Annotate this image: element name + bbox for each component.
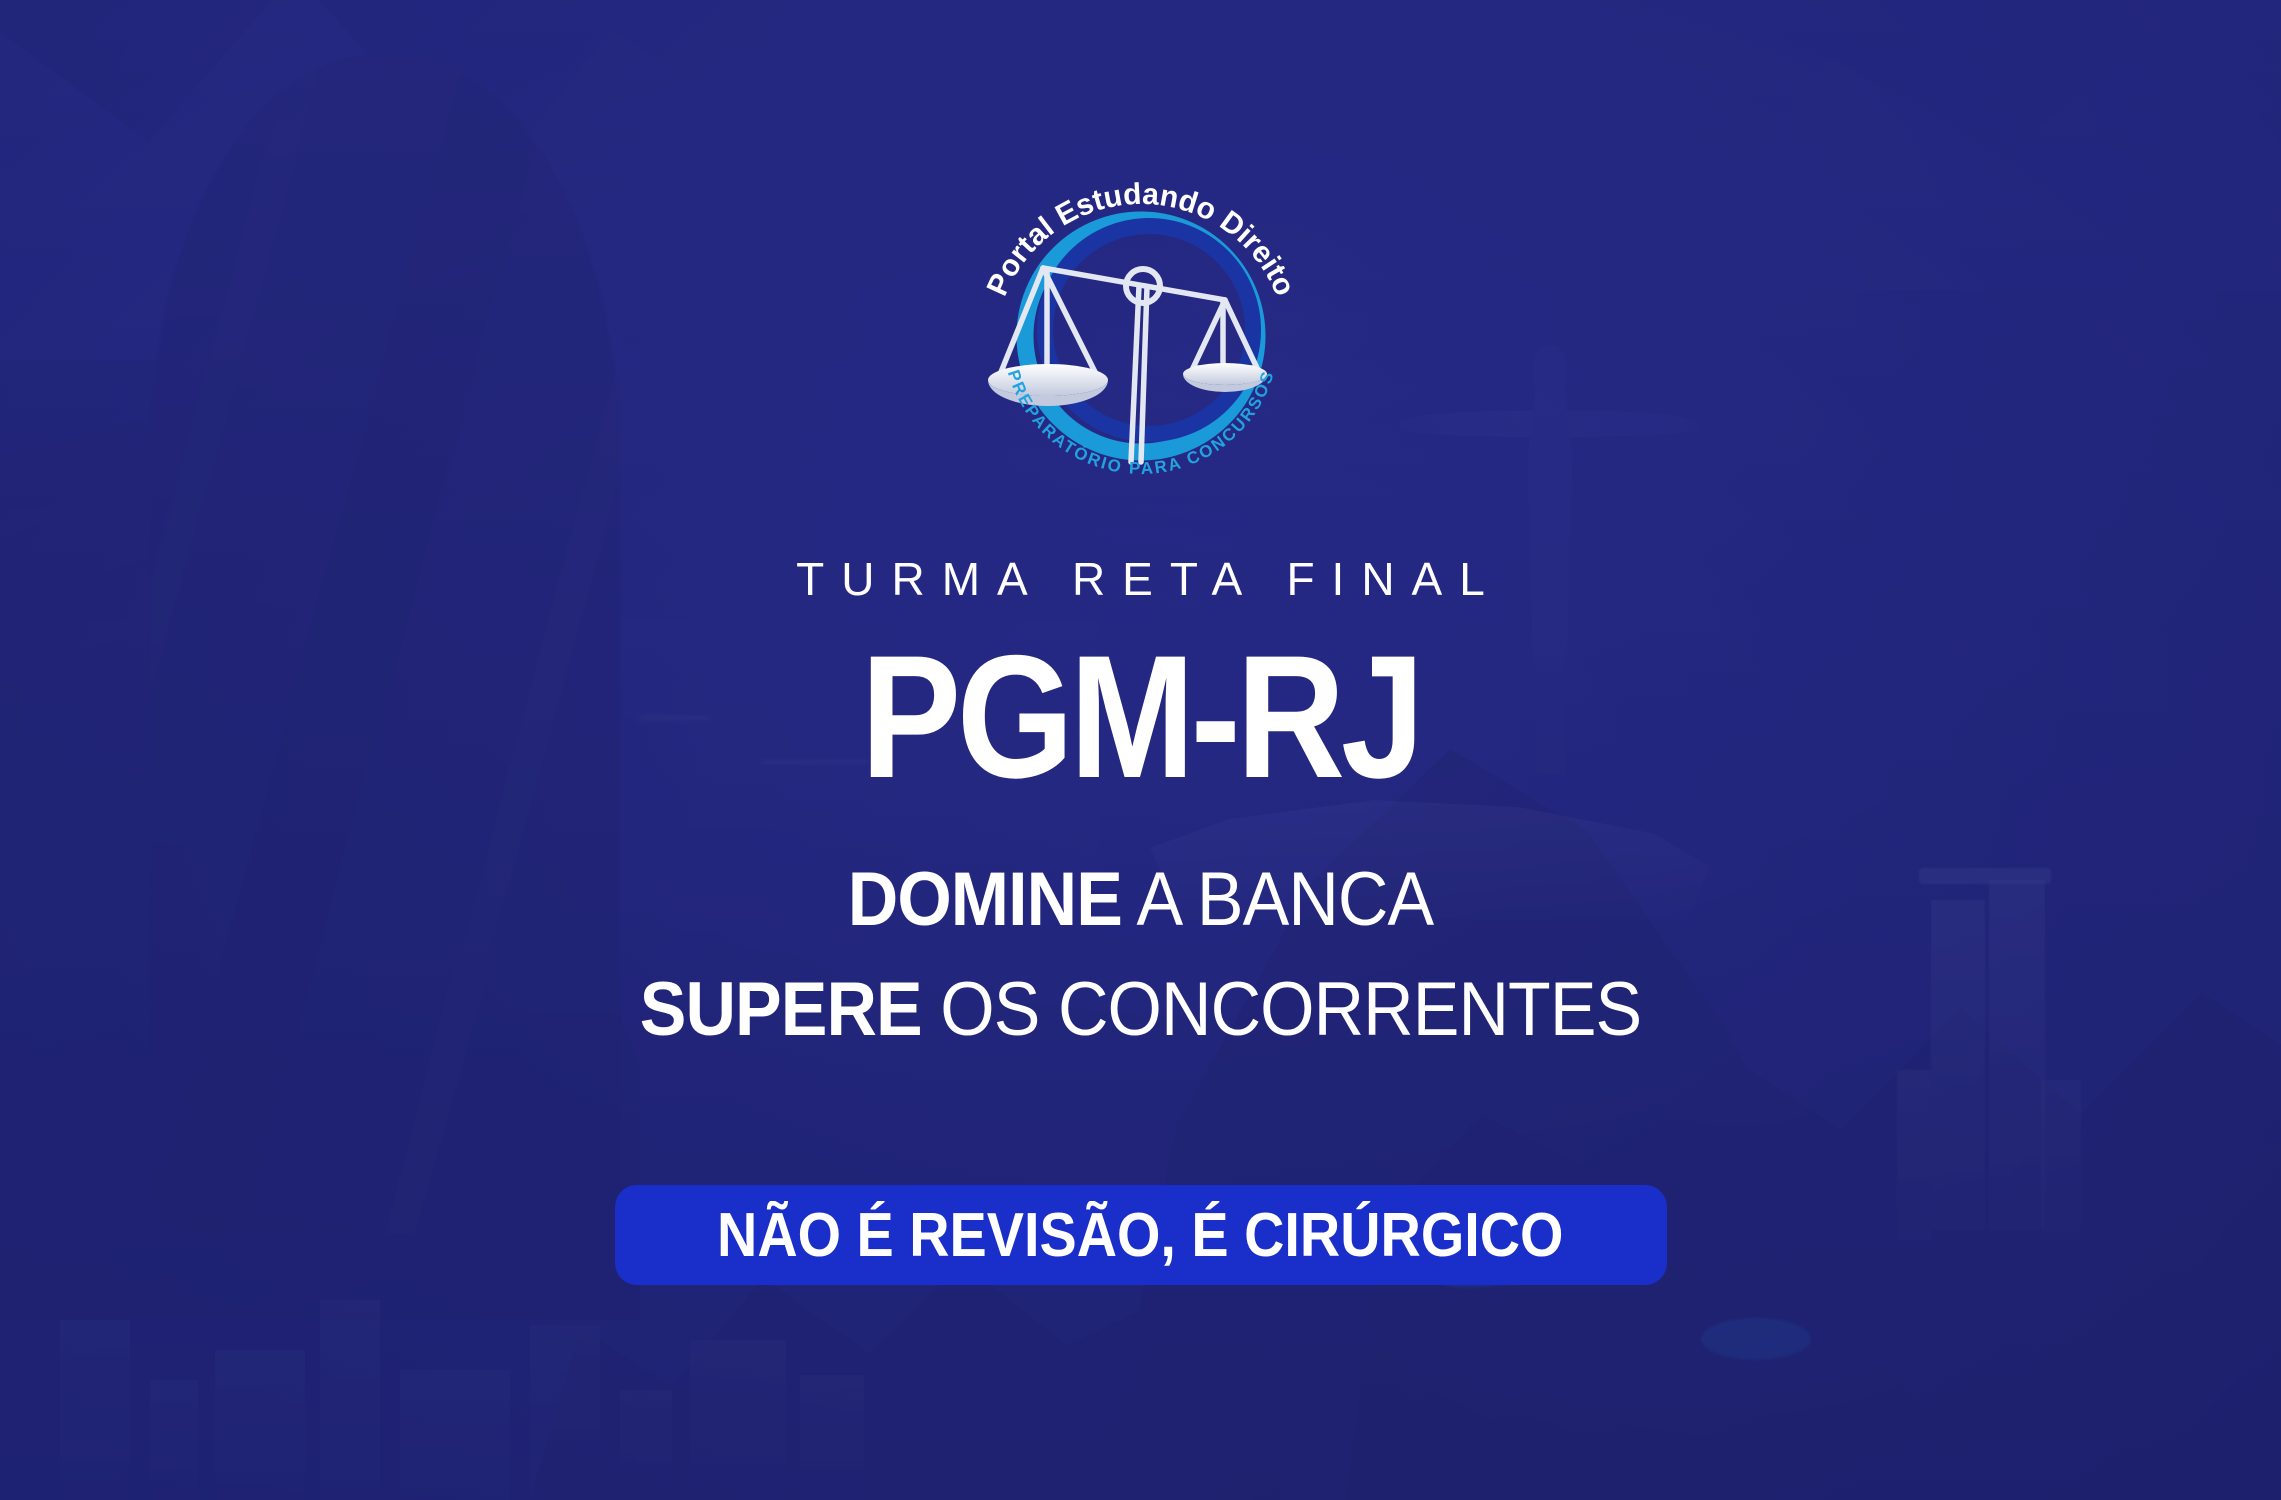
subtitle-line-2: SUPERE OS CONCORRENTES [91,972,2190,1048]
logo-pan-right [1183,363,1267,385]
subtitle-2-bold: SUPERE [640,967,922,1052]
subtitle-line-1: DOMINE A BANCA [91,862,2190,938]
page-title: PGM-RJ [160,630,2122,805]
brand-logo: Portal Estudando Direito PREPARATÓRIO PA… [961,140,1321,500]
badge-label: NÃO É REVISÃO, É CIRÚRGICO [717,1200,1563,1271]
logo-pan-left [988,364,1108,396]
subtitle-1-bold: DOMINE [848,857,1122,942]
status-badge: NÃO É REVISÃO, É CIRÚRGICO [615,1185,1667,1285]
promotional-poster: Portal Estudando Direito PREPARATÓRIO PA… [0,0,2281,1500]
subtitle-2-rest: OS CONCORRENTES [922,967,1642,1052]
kicker-text: TURMA RETA FINAL [0,552,2281,606]
subtitle-1-rest: A BANCA [1122,857,1433,942]
poster-content: Portal Estudando Direito PREPARATÓRIO PA… [0,0,2281,1500]
